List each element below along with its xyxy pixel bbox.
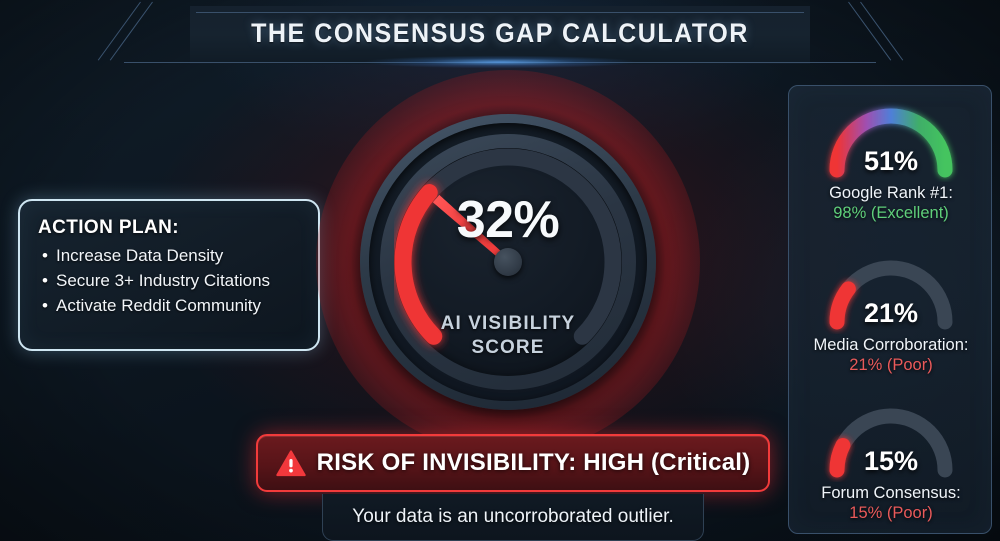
metric-gauge: 15%	[820, 402, 962, 482]
warning-triangle-icon	[276, 450, 306, 477]
list-item: Activate Reddit Community	[56, 294, 300, 319]
gauge-hub	[494, 248, 522, 276]
metrics-panel: 51% Google Rank #1: 98% (Excellent) 21% …	[788, 85, 992, 534]
metric-status: 21% (Poor)	[789, 356, 993, 375]
metric-status: 15% (Poor)	[789, 504, 993, 523]
metric-status: 98% (Excellent)	[789, 204, 993, 223]
risk-banner: RISK OF INVISIBILITY: HIGH (Critical)	[256, 434, 770, 492]
metric-name: Forum Consensus:	[789, 484, 993, 503]
header-bar: THE CONSENSUS GAP CALCULATOR	[0, 0, 1000, 70]
action-plan-panel: ACTION PLAN: Increase Data Density Secur…	[18, 199, 320, 351]
gauge-label-line1: AI VISIBILITY	[358, 312, 658, 336]
action-plan-title: ACTION PLAN:	[38, 217, 300, 239]
gauge-value: 32%	[358, 190, 658, 250]
gauge-label: AI VISIBILITY SCORE	[358, 312, 658, 361]
list-item: Secure 3+ Industry Citations	[56, 269, 300, 294]
metric-name: Google Rank #1:	[789, 184, 993, 203]
metric-value: 51%	[820, 146, 962, 177]
page-title: THE CONSENSUS GAP CALCULATOR	[35, 18, 965, 49]
action-plan-list: Increase Data Density Secure 3+ Industry…	[38, 244, 300, 319]
header-frame-line-top	[196, 12, 804, 13]
risk-banner-text: RISK OF INVISIBILITY: HIGH (Critical)	[317, 449, 751, 477]
metric-card: 15% Forum Consensus: 15% (Poor)	[789, 402, 993, 523]
metric-name: Media Corroboration:	[789, 336, 993, 355]
metric-gauge: 51%	[820, 102, 962, 182]
metric-value: 21%	[820, 298, 962, 329]
ai-visibility-gauge: 32% AI VISIBILITY SCORE	[358, 112, 658, 412]
metric-card: 21% Media Corroboration: 21% (Poor)	[789, 254, 993, 375]
risk-subcaption: Your data is an uncorroborated outlier.	[322, 494, 704, 541]
gauge-label-line2: SCORE	[358, 336, 658, 360]
list-item: Increase Data Density	[56, 244, 300, 269]
header-underglow	[330, 55, 670, 69]
metric-gauge: 21%	[820, 254, 962, 334]
metric-value: 15%	[820, 446, 962, 477]
metric-card: 51% Google Rank #1: 98% (Excellent)	[789, 102, 993, 223]
